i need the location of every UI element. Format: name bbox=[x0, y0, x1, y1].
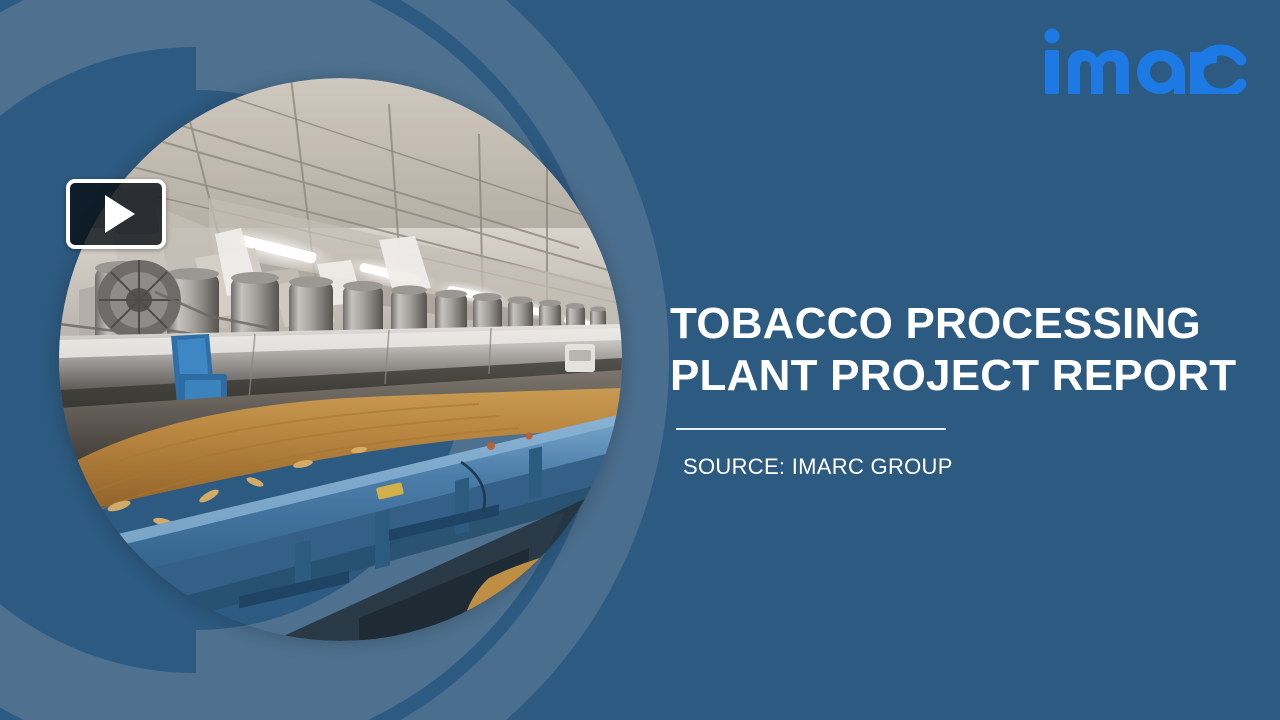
play-video-button[interactable] bbox=[66, 179, 166, 249]
logo-letter-a bbox=[1137, 50, 1185, 94]
slide-canvas: TOBACCO PROCESSING PLANT PROJECT REPORT … bbox=[0, 0, 1280, 720]
hero-photo-circle bbox=[59, 78, 622, 641]
title-block: TOBACCO PROCESSING PLANT PROJECT REPORT … bbox=[670, 298, 1240, 480]
play-triangle-icon bbox=[105, 195, 135, 233]
logo-i-dot bbox=[1045, 29, 1060, 44]
hero-photo-inner bbox=[59, 78, 622, 641]
tobacco-plant-photo bbox=[59, 78, 622, 641]
logo-letter-c bbox=[1198, 50, 1241, 94]
title-divider bbox=[676, 428, 946, 430]
logo-letter-i bbox=[1045, 50, 1059, 94]
page-title: TOBACCO PROCESSING PLANT PROJECT REPORT bbox=[670, 298, 1240, 402]
source-label: SOURCE: IMARC GROUP bbox=[683, 454, 1240, 480]
imarc-logo[interactable] bbox=[1038, 26, 1248, 94]
logo-letter-m bbox=[1068, 50, 1129, 94]
